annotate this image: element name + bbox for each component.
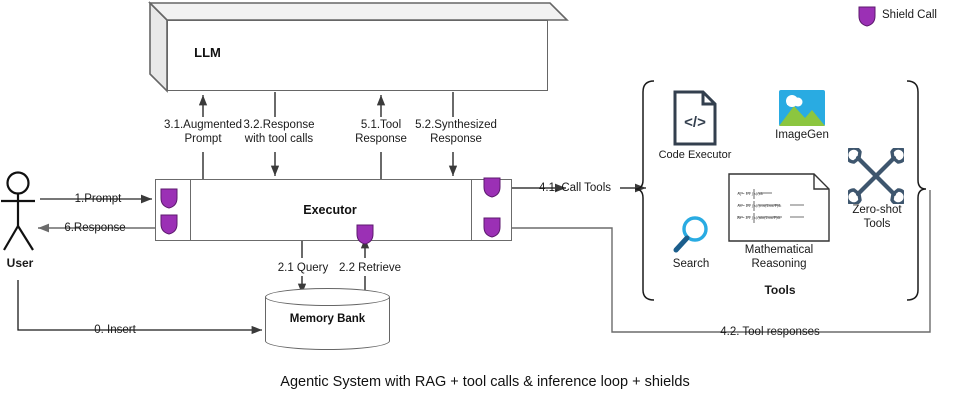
tool-label-imagegen: ImageGen [762,128,842,142]
user-label: User [0,256,40,270]
shield-icon-output-response [159,213,179,235]
crossed-wrenches-icon [848,148,904,204]
shield-icon-input-prompt [159,187,179,209]
tool-label-math-reasoning: Mathematical Reasoning [727,243,831,271]
image-icon [779,90,825,126]
llm-label: LLM [17,17,398,88]
shield-icon-memory-retrieve [355,223,375,245]
user-stick-figure [1,173,35,251]
edge-label-tool-responses: 4.2. Tool responses [670,325,870,339]
tool-label-search: Search [655,257,727,271]
memory-bank-label: Memory Bank [265,288,390,350]
edge-label-prompt: 1.Prompt [48,192,148,206]
tools-group-label: Tools [740,283,820,297]
legend-shield-label: Shield Call [882,8,970,22]
svg-text:A₀ = 1/P ∫ x(t)dt: A₀ = 1/P ∫ x(t)dt [737,191,764,196]
edge-label-synthesized-response: 5.2.Synthesized Response [395,118,517,146]
svg-text:Aₙ = 2/P ∫ x(t)cos(2πnt/P)dt: Aₙ = 2/P ∫ x(t)cos(2πnt/P)dt [737,203,782,208]
tool-label-zero-shot: Zero-shot Tools [842,203,912,231]
edge-label-response-tool-calls: 3.2.Response with tool calls [219,118,339,146]
svg-text:</>: </> [684,114,706,131]
edge-label-call-tools: 4.1. Call Tools [520,181,630,195]
shield-icon-tool-call [482,176,502,198]
magnifier-icon [672,215,710,255]
code-document-icon: </> [673,90,717,146]
tools-bracket-right [907,81,926,300]
shield-icon-tool-response [482,216,502,238]
diagram-canvas: LLM Executor Memory Bank User 1.Prompt 6… [0,0,970,411]
tools-bracket-left [635,81,654,300]
executor-right-divider [471,180,472,240]
formula-document-icon: A₀ = 1/P ∫ x(t)dt Aₙ = 2/P ∫ x(t)cos(2πn… [728,173,830,242]
executor-label: Executor [190,179,470,241]
edge-label-retrieve: 2.2 Retrieve [325,261,415,275]
tool-label-code-executor: Code Executor [645,148,745,162]
legend-shield-icon [857,5,877,27]
svg-text:Bₙ = 2/P ∫ x(t)sin(2πnt/P)dt: Bₙ = 2/P ∫ x(t)sin(2πnt/P)dt [737,215,781,220]
edge-label-insert: 0. Insert [60,323,170,337]
edge-label-response: 6.Response [45,221,145,235]
diagram-caption: Agentic System with RAG + tool calls & i… [0,374,970,390]
